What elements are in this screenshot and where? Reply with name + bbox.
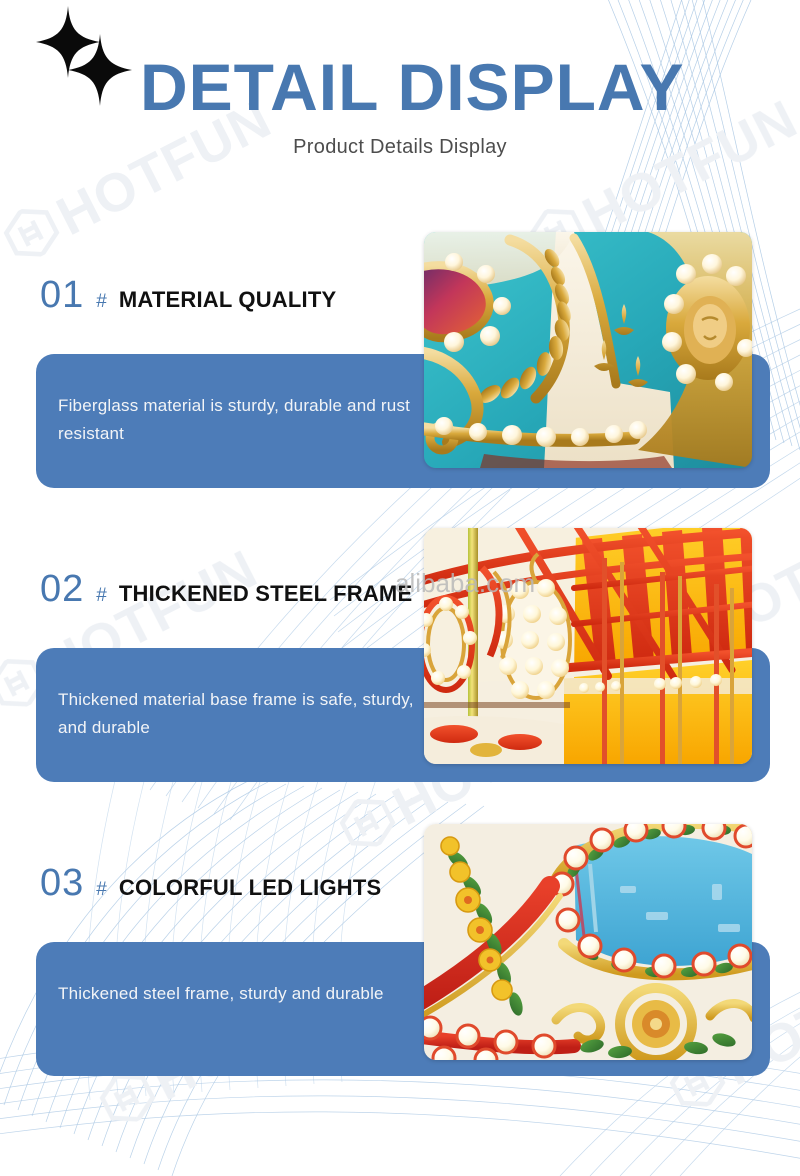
section-title: COLORFUL LED LIGHTS — [119, 877, 382, 899]
description-text: Thickened steel frame, sturdy and durabl… — [58, 980, 438, 1008]
section-number: 03 — [40, 864, 84, 902]
section-number: 01 — [40, 276, 84, 314]
page-subtitle: Product Details Display — [0, 136, 800, 159]
description-text: Thickened material base frame is safe, s… — [58, 686, 438, 742]
carousel-steel-frame-photo — [424, 528, 752, 764]
hash-symbol: # — [96, 880, 107, 899]
section-heading: 02 # THICKENED STEEL FRAME — [40, 570, 412, 608]
carousel-led-lights-photo — [424, 824, 752, 1060]
description-text: Fiberglass material is sturdy, durable a… — [58, 392, 438, 448]
section-title: THICKENED STEEL FRAME — [119, 583, 412, 605]
feature-photo-03 — [424, 824, 752, 1060]
section-number: 02 — [40, 570, 84, 608]
section-title: MATERIAL QUALITY — [119, 289, 337, 311]
hash-symbol: # — [96, 586, 107, 605]
hexagon-logo-icon — [0, 198, 66, 267]
carousel-ornament-photo — [424, 232, 752, 468]
section-heading: 01 # MATERIAL QUALITY — [40, 276, 336, 314]
feature-photo-02 — [424, 528, 752, 764]
page-title: DETAIL DISPLAY — [140, 54, 685, 120]
section-heading: 03 # COLORFUL LED LIGHTS — [40, 864, 381, 902]
hash-symbol: # — [96, 292, 107, 311]
detail-display-page: HOTFUN HOTFUN HOTFUN HOTFUN HOTFUN HOTFU… — [0, 0, 800, 1176]
hexagon-logo-icon — [333, 788, 402, 857]
feature-photo-01 — [424, 232, 752, 468]
